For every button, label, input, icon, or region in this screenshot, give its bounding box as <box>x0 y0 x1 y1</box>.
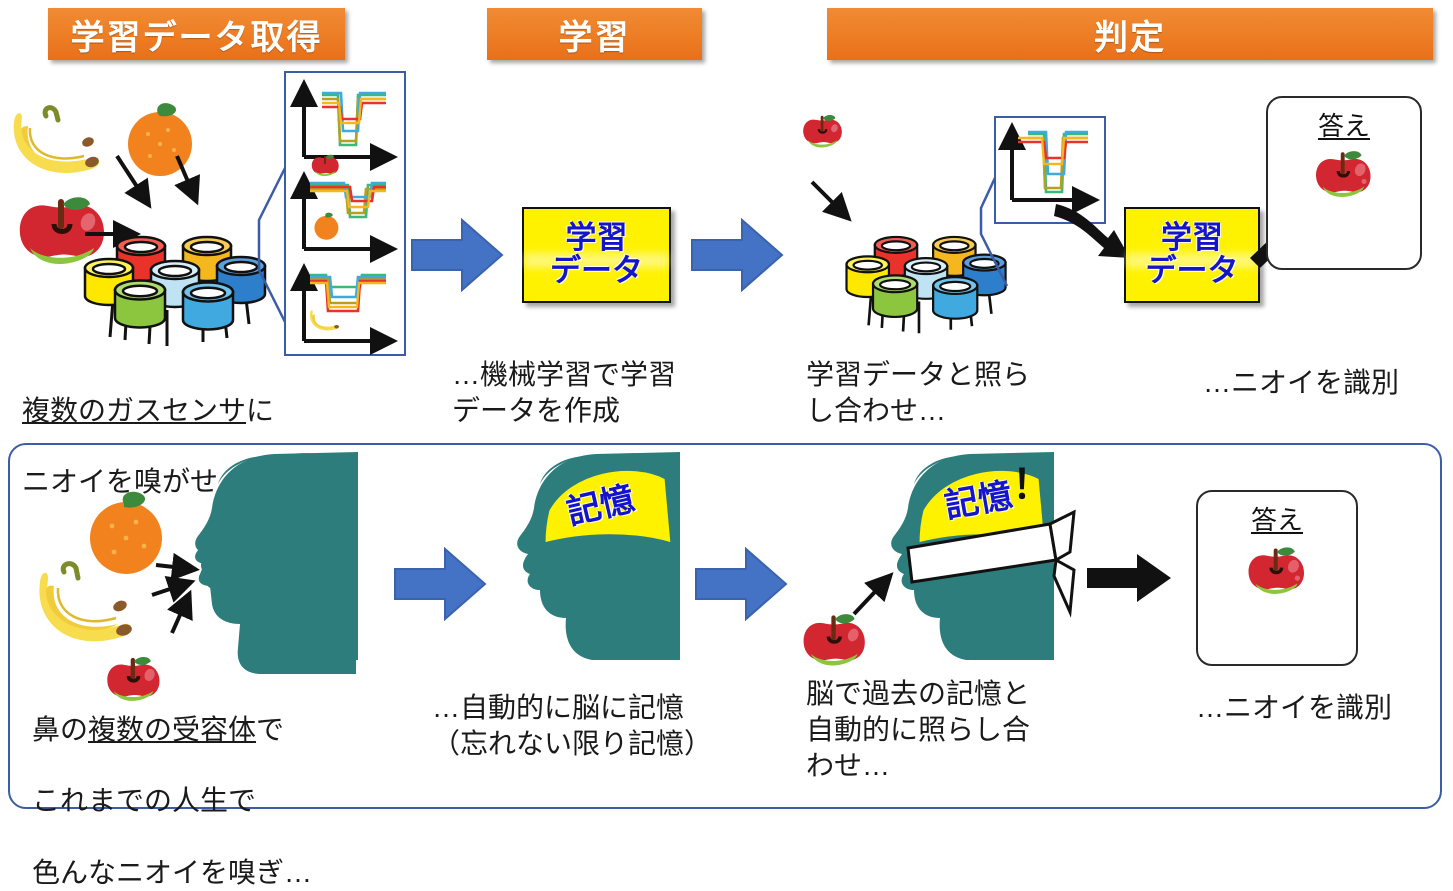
sensor-green <box>115 281 165 328</box>
flow-arrow-blue-3 <box>393 545 488 623</box>
flow-arrow-blue-4 <box>694 545 789 623</box>
learning-data-line1: 学習 <box>566 222 628 255</box>
caption-human-compare: 脳で過去の記憶と 自動的に照らし合 わせ… <box>806 676 1030 783</box>
caption-judge: 学習データと照ら し合わせ… <box>806 357 1030 429</box>
answer-title-machine: 答え <box>1268 106 1420 143</box>
apple-icon <box>1228 536 1326 648</box>
learning-data-line2: データ <box>550 255 643 288</box>
caption-human-line1-underline: 複数の受容体 <box>88 714 256 745</box>
stage-header-acquire-label: 学習データ取得 <box>71 10 323 59</box>
caption-human-receptors: 鼻の複数の受容体で これまでの人生で 色んなニオイを嗅ぎ… <box>32 676 312 891</box>
caption-human-memorize: …自動的に脳に記憶 （忘れない限り記憶） <box>432 690 712 762</box>
sensor-cyan <box>183 283 233 330</box>
sensor-response-panel <box>284 71 406 356</box>
sensor-green <box>873 275 917 317</box>
sensor-response-curves <box>286 73 400 350</box>
gas-sensor-array <box>55 212 270 347</box>
apple-icon-judge <box>782 108 864 186</box>
caption-identify-human: …ニオイを識別 <box>1196 690 1392 726</box>
exclamation-mark: ！ <box>1012 452 1052 510</box>
banana-icon <box>39 564 133 642</box>
answer-box-human: 答え <box>1196 490 1358 666</box>
head-silhouette-1 <box>178 452 358 677</box>
judge-data-line2: データ <box>1146 255 1239 288</box>
stage-header-acquire: 学習データ取得 <box>48 8 345 60</box>
caption-identify-machine: …ニオイを識別 <box>1203 365 1399 401</box>
banana-icon <box>310 310 339 330</box>
sensor-cyan <box>933 277 977 319</box>
caption-human-line2: これまでの人生で <box>32 785 256 816</box>
answer-title-human: 答え <box>1198 500 1356 537</box>
caption-human-line1-pre: 鼻の <box>32 714 88 745</box>
learning-data-box: 学習 データ <box>522 207 671 303</box>
flow-arrow-blue-2 <box>690 216 785 294</box>
caption-learn: …機械学習で学習 データを作成 <box>452 357 676 429</box>
judge-data-box: 学習 データ <box>1124 207 1260 303</box>
apple-icon <box>1296 140 1392 250</box>
stage-header-learn: 学習 <box>487 8 702 60</box>
stage-header-judge-label: 判定 <box>1094 10 1166 59</box>
caption-human-line1-rest: で <box>256 714 284 745</box>
caption-acquire-line1-underline: 複数のガスセンサ <box>22 395 246 426</box>
orange-icon <box>314 213 338 240</box>
arrow-to-answer-human <box>1085 548 1175 608</box>
judge-data-line1: 学習 <box>1161 222 1223 255</box>
caption-human-line3: 色んなニオイを嗅ぎ… <box>32 857 312 888</box>
caption-acquire-line1-rest: に <box>246 395 274 426</box>
stage-header-judge: 判定 <box>827 8 1433 60</box>
stage-header-learn-label: 学習 <box>559 10 631 59</box>
flow-arrow-blue-1 <box>410 216 505 294</box>
answer-box-machine: 答え <box>1266 96 1422 270</box>
